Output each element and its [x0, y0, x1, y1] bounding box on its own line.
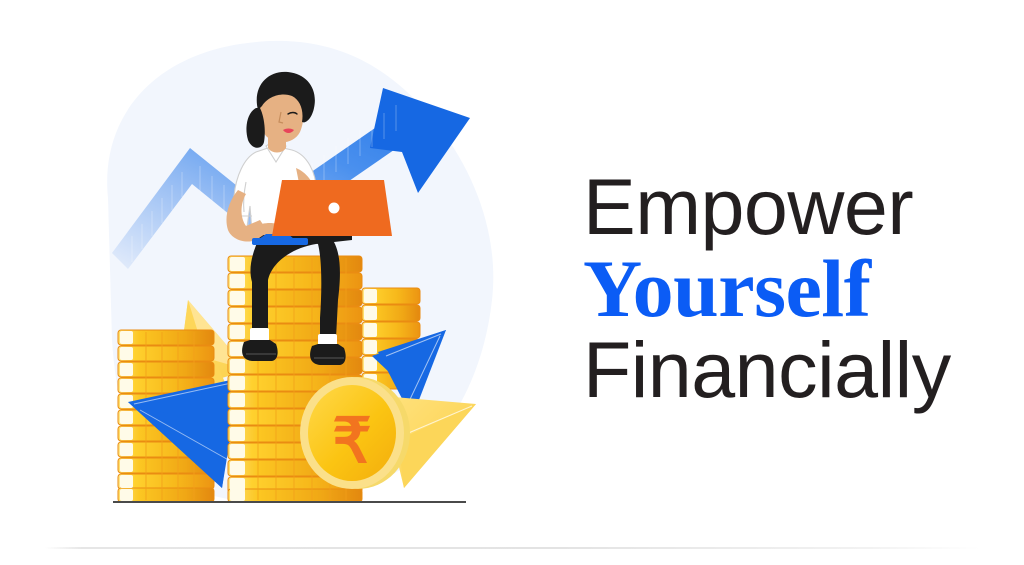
promo-banner: ₹ — [0, 0, 1024, 565]
rupee-symbol: ₹ — [332, 407, 371, 476]
finance-illustration: ₹ — [0, 0, 560, 530]
page-title: Empower Yourself Financially — [583, 168, 1003, 410]
rupee-coin: ₹ — [300, 377, 410, 489]
headline-line-empower: Empower — [583, 168, 1003, 246]
headline-line-yourself: Yourself — [583, 248, 1003, 329]
headline-line-financially: Financially — [583, 331, 1003, 409]
bottom-divider — [45, 547, 980, 549]
